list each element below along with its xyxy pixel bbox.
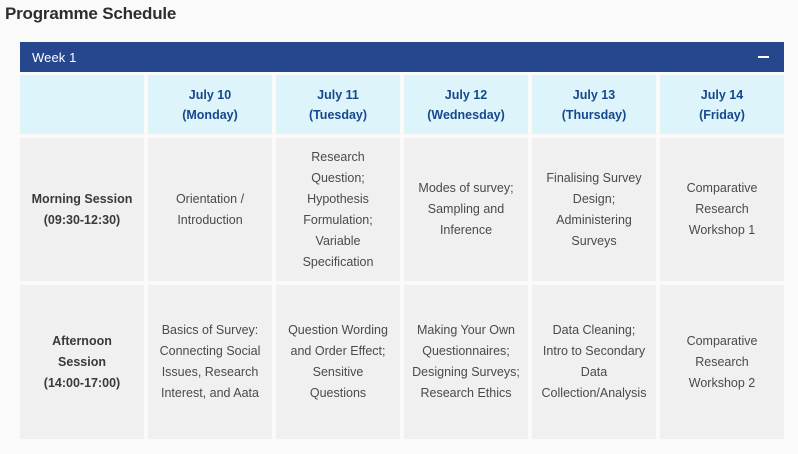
cell-afternoon-day-3[interactable]: Making Your Own Questionnaires; Designin…	[404, 285, 528, 439]
schedule-page: Programme Schedule Week 1 July 10 (Monda…	[0, 0, 798, 454]
header-day-2: (Tuesday)	[309, 105, 367, 125]
header-date-1: July 10	[189, 85, 231, 105]
cell-afternoon-day-5[interactable]: Comparative Research Workshop 2	[660, 285, 784, 439]
header-cell-day-2: July 11 (Tuesday)	[276, 75, 400, 134]
row-label-morning-line1: Morning Session	[32, 189, 133, 210]
header-cell-day-3: July 12 (Wednesday)	[404, 75, 528, 134]
header-corner-cell	[20, 75, 144, 134]
cell-morning-day-1[interactable]: Orientation / Introduction	[148, 138, 272, 281]
row-label-afternoon-line2: (14:00-17:00)	[28, 373, 136, 394]
cell-morning-day-4[interactable]: Finalising Survey Design; Administering …	[532, 138, 656, 281]
header-day-3: (Wednesday)	[427, 105, 505, 125]
row-label-morning: Morning Session (09:30-12:30)	[20, 138, 144, 281]
cell-morning-day-3[interactable]: Modes of survey; Sampling and Inference	[404, 138, 528, 281]
header-date-3: July 12	[445, 85, 487, 105]
header-day-5: (Friday)	[699, 105, 745, 125]
schedule-grid: July 10 (Monday) July 11 (Tuesday) July …	[20, 75, 784, 439]
header-cell-day-1: July 10 (Monday)	[148, 75, 272, 134]
row-label-afternoon-line1: Afternoon Session	[28, 331, 136, 373]
header-date-5: July 14	[701, 85, 743, 105]
row-label-morning-line2: (09:30-12:30)	[32, 210, 133, 231]
cell-morning-day-5[interactable]: Comparative Research Workshop 1	[660, 138, 784, 281]
header-date-4: July 13	[573, 85, 615, 105]
programme-schedule-panel: Week 1 July 10 (Monday) July 11 (Tuesday…	[20, 42, 784, 439]
row-label-afternoon: Afternoon Session (14:00-17:00)	[20, 285, 144, 439]
header-cell-day-5: July 14 (Friday)	[660, 75, 784, 134]
cell-afternoon-day-2[interactable]: Question Wording and Order Effect; Sensi…	[276, 285, 400, 439]
header-day-4: (Thursday)	[562, 105, 627, 125]
minimize-icon[interactable]	[754, 42, 772, 72]
page-title: Programme Schedule	[5, 2, 176, 26]
cell-afternoon-day-4[interactable]: Data Cleaning; Intro to Secondary Data C…	[532, 285, 656, 439]
week-label: Week 1	[32, 50, 76, 65]
header-cell-day-4: July 13 (Thursday)	[532, 75, 656, 134]
header-day-1: (Monday)	[182, 105, 238, 125]
cell-morning-day-2[interactable]: Research Question; Hypothesis Formulatio…	[276, 138, 400, 281]
header-date-2: July 11	[317, 85, 359, 105]
minimize-dash	[758, 56, 769, 58]
cell-afternoon-day-1[interactable]: Basics of Survey: Connecting Social Issu…	[148, 285, 272, 439]
week-header-bar: Week 1	[20, 42, 784, 72]
